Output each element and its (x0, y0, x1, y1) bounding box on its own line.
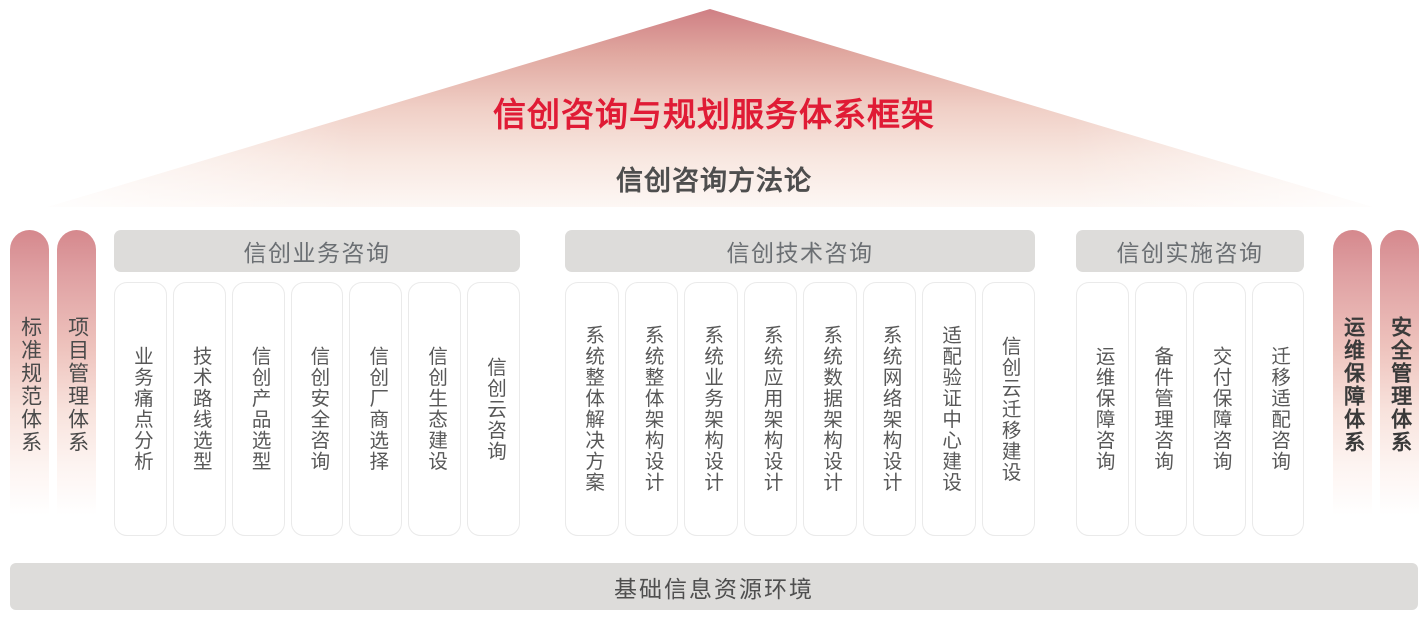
pillar-operations-assurance-system[interactable]: 运维保障体系 (1333, 230, 1372, 540)
card-label: 业务痛点分析 (130, 346, 152, 472)
service-framework-diagram: 信创咨询与规划服务体系框架 信创咨询方法论 标准规范体系 项目管理体系 运维保障… (0, 0, 1428, 627)
card-list-business: 业务痛点分析 技术路线选型 信创产品选型 信创安全咨询 信创厂商选择 信创生态建… (114, 282, 520, 536)
card-label: 迁移适配咨询 (1267, 346, 1289, 472)
card-label: 系统整体解决方案 (581, 325, 603, 493)
page-title: 信创咨询与规划服务体系框架 (0, 97, 1428, 133)
card-label: 信创安全咨询 (306, 346, 328, 472)
list-item[interactable]: 运维保障咨询 (1076, 282, 1129, 536)
group-implementation-consulting: 信创实施咨询 运维保障咨询 备件管理咨询 交付保障咨询 迁移适配咨询 (1076, 230, 1304, 536)
list-item[interactable]: 信创生态建设 (408, 282, 461, 536)
card-label: 系统整体架构设计 (640, 325, 662, 493)
group-technical-consulting: 信创技术咨询 系统整体解决方案 系统整体架构设计 系统业务架构设计 系统应用架构… (565, 230, 1035, 536)
pillar-project-management-system[interactable]: 项目管理体系 (57, 230, 96, 540)
list-item[interactable]: 信创云咨询 (467, 282, 520, 536)
pillar-label: 安全管理体系 (1387, 316, 1411, 454)
list-item[interactable]: 系统整体架构设计 (625, 282, 679, 536)
list-item[interactable]: 信创安全咨询 (291, 282, 344, 536)
card-label: 系统网络架构设计 (878, 325, 900, 493)
list-item[interactable]: 适配验证中心建设 (922, 282, 976, 536)
list-item[interactable]: 信创产品选型 (232, 282, 285, 536)
group-header-implementation[interactable]: 信创实施咨询 (1076, 230, 1304, 272)
pillar-label: 标准规范体系 (17, 316, 41, 454)
card-label: 系统应用架构设计 (759, 325, 781, 493)
pillar-standard-system[interactable]: 标准规范体系 (10, 230, 49, 540)
list-item[interactable]: 交付保障咨询 (1193, 282, 1246, 536)
pillar-security-management-system[interactable]: 安全管理体系 (1380, 230, 1419, 540)
list-item[interactable]: 迁移适配咨询 (1252, 282, 1305, 536)
card-label: 信创云迁移建设 (997, 336, 1019, 483)
card-label: 信创厂商选择 (365, 346, 387, 472)
list-item[interactable]: 信创厂商选择 (349, 282, 402, 536)
card-label: 适配验证中心建设 (938, 325, 960, 493)
foundation-bar: 基础信息资源环境 (10, 563, 1418, 610)
foundation-label: 基础信息资源环境 (614, 570, 814, 604)
card-list-implementation: 运维保障咨询 备件管理咨询 交付保障咨询 迁移适配咨询 (1076, 282, 1304, 536)
group-header-technical[interactable]: 信创技术咨询 (565, 230, 1035, 272)
card-label: 交付保障咨询 (1208, 346, 1230, 472)
list-item[interactable]: 系统网络架构设计 (863, 282, 917, 536)
card-list-technical: 系统整体解决方案 系统整体架构设计 系统业务架构设计 系统应用架构设计 系统数据… (565, 282, 1035, 536)
card-label: 信创云咨询 (483, 357, 505, 462)
card-label: 系统业务架构设计 (700, 325, 722, 493)
list-item[interactable]: 备件管理咨询 (1135, 282, 1188, 536)
list-item[interactable]: 信创云迁移建设 (982, 282, 1036, 536)
group-header-business[interactable]: 信创业务咨询 (114, 230, 520, 272)
card-label: 备件管理咨询 (1150, 346, 1172, 472)
list-item[interactable]: 系统整体解决方案 (565, 282, 619, 536)
card-label: 信创生态建设 (424, 346, 446, 472)
pillar-label: 运维保障体系 (1340, 316, 1364, 454)
page-subtitle: 信创咨询方法论 (0, 167, 1428, 197)
list-item[interactable]: 业务痛点分析 (114, 282, 167, 536)
list-item[interactable]: 系统业务架构设计 (684, 282, 738, 536)
pillar-label: 项目管理体系 (64, 316, 88, 454)
group-business-consulting: 信创业务咨询 业务痛点分析 技术路线选型 信创产品选型 信创安全咨询 信创厂商选… (114, 230, 520, 536)
list-item[interactable]: 技术路线选型 (173, 282, 226, 536)
card-label: 技术路线选型 (188, 346, 210, 472)
card-label: 系统数据架构设计 (819, 325, 841, 493)
list-item[interactable]: 系统应用架构设计 (744, 282, 798, 536)
list-item[interactable]: 系统数据架构设计 (803, 282, 857, 536)
card-label: 信创产品选型 (247, 346, 269, 472)
card-label: 运维保障咨询 (1091, 346, 1113, 472)
